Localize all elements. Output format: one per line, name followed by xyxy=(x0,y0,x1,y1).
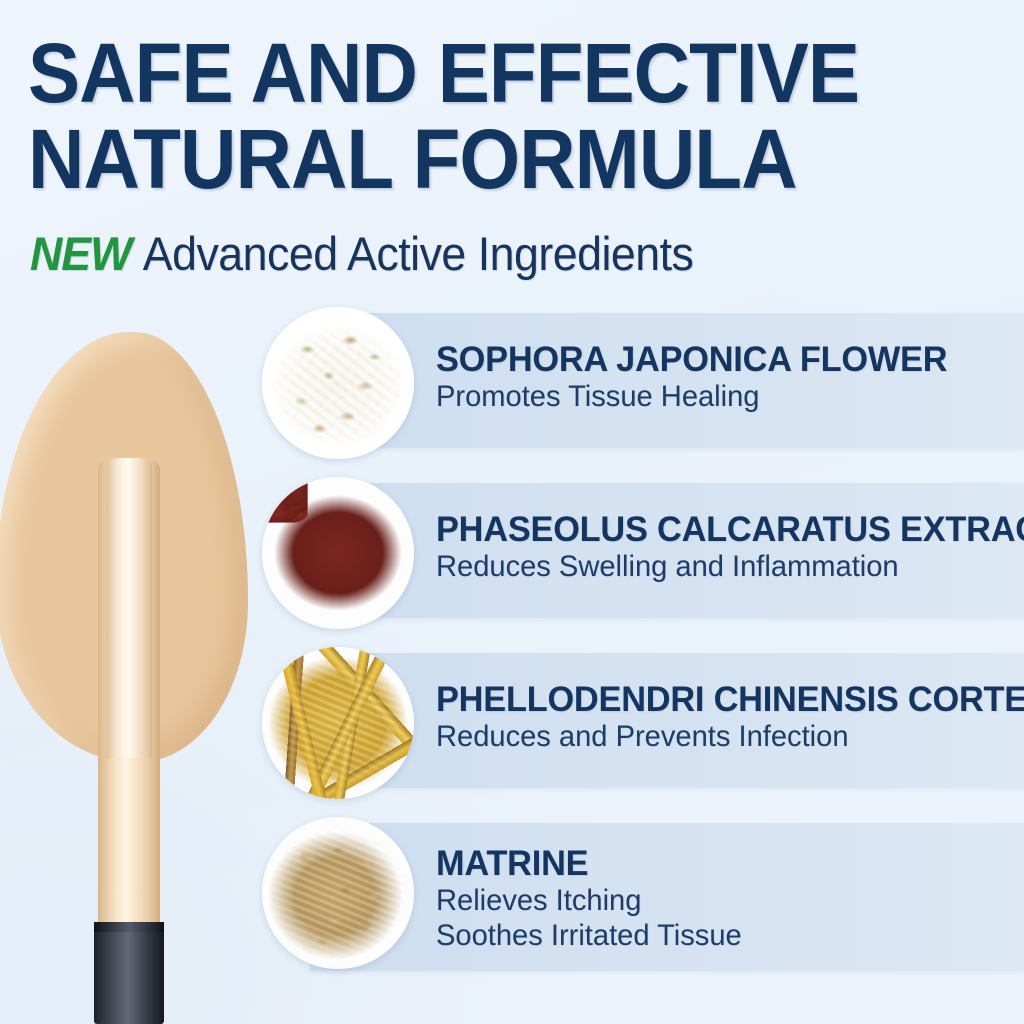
headline-line-1: SAFE AND EFFECTIVE xyxy=(28,30,735,116)
phaseolus-calcaratus-beans-photo xyxy=(262,477,414,629)
ingredient-benefit: Reduces Swelling and Inflammation xyxy=(436,549,1024,584)
ingredient-benefit: Soothes Irritated Tissue xyxy=(436,918,742,953)
applicator-base xyxy=(94,922,164,1024)
ingredient-title: SOPHORA JAPONICA FLOWER xyxy=(436,341,947,379)
headline: SAFE AND EFFECTIVE NATURAL FORMULA xyxy=(28,30,788,202)
subheadline-text: Advanced Active Ingredients xyxy=(143,227,694,280)
ingredient-text: PHASEOLUS CALCARATUS EXTRACT Reduces Swe… xyxy=(436,511,1024,584)
sophora-japonica-flower-photo xyxy=(262,307,414,459)
applicator-tip xyxy=(106,458,152,758)
ingredient-text: SOPHORA JAPONICA FLOWER Promotes Tissue … xyxy=(436,341,958,414)
ingredient-text: MATRINE Relieves Itching Soothes Irritat… xyxy=(436,845,751,953)
matrine-root-slices-photo xyxy=(262,817,414,969)
subheadline: NEW Advanced Active Ingredients xyxy=(30,228,693,280)
ingredient-text: PHELLODENDRI CHINENSIS CORTEX Reduces an… xyxy=(436,681,1024,754)
ingredient-title: PHASEOLUS CALCARATUS EXTRACT xyxy=(436,511,1024,549)
product-image xyxy=(0,330,280,1024)
new-badge: NEW xyxy=(30,227,143,280)
ingredient-title: MATRINE xyxy=(436,845,745,883)
ingredient-benefit: Reduces and Prevents Infection xyxy=(436,719,1024,754)
ingredient-title: PHELLODENDRI CHINENSIS CORTEX xyxy=(436,681,1024,719)
headline-line-2: NATURAL FORMULA xyxy=(28,116,735,202)
ingredient-benefit: Relieves Itching xyxy=(436,883,742,918)
ingredient-benefit: Promotes Tissue Healing xyxy=(436,379,942,414)
phellodendri-bark-photo xyxy=(262,647,414,799)
